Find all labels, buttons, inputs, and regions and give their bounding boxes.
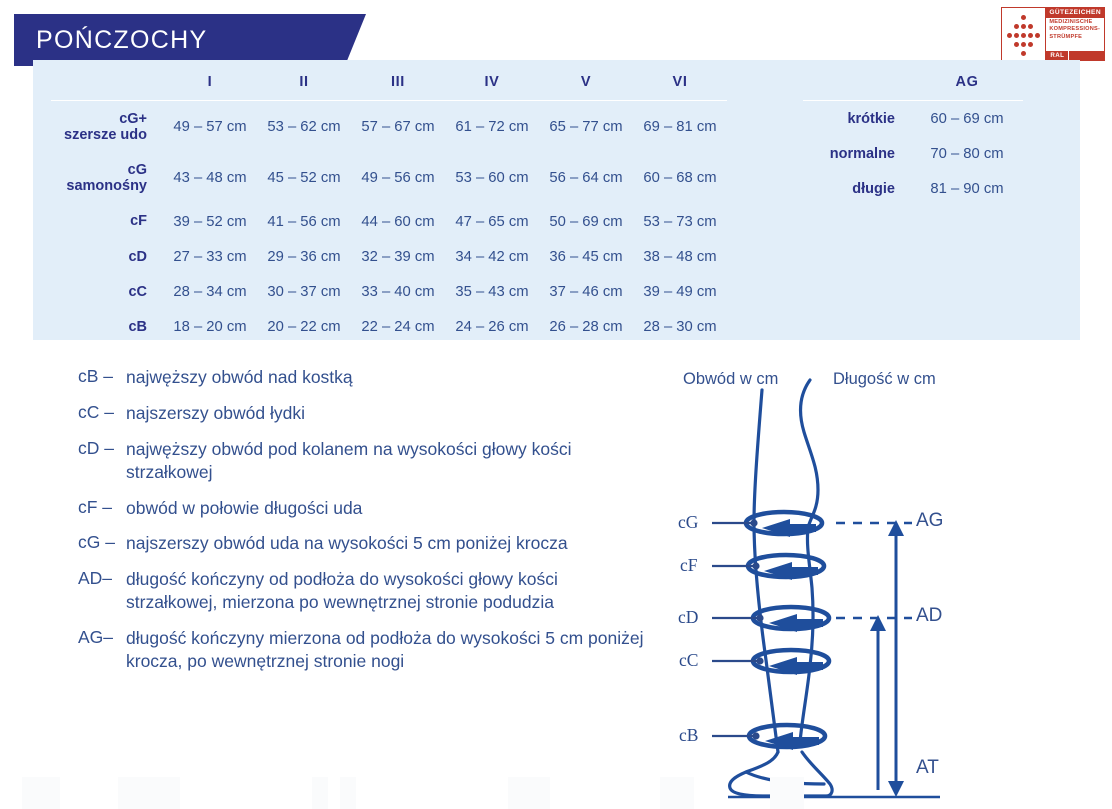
cell-value: 32 – 39 cm xyxy=(351,239,445,274)
legend-key: cB – xyxy=(78,366,126,389)
table-row: długie 81 – 90 cm xyxy=(803,171,1023,206)
column-header-III: III xyxy=(351,68,445,101)
cell-value: 34 – 42 cm xyxy=(445,239,539,274)
diagram-label-cb: cB xyxy=(679,725,698,746)
legend-desc: najwęższy obwód nad kostką xyxy=(126,366,353,389)
leg-diagram-svg xyxy=(650,360,980,800)
dashed-reference-lines xyxy=(836,523,912,618)
legend-key: cG – xyxy=(78,532,126,555)
cell-value: 24 – 26 cm xyxy=(445,310,539,345)
ral-badge: RAL xyxy=(1046,51,1068,60)
row-label-cg: cG samonośny xyxy=(51,152,163,203)
column-header-V: V xyxy=(539,68,633,101)
list-item: AG– długość kończyny mierzona od podłoża… xyxy=(78,627,653,674)
list-item: cC – najszerszy obwód łydki xyxy=(78,402,653,425)
column-header-AG: AG xyxy=(911,68,1023,101)
cell-value: 41 – 56 cm xyxy=(257,204,351,239)
cell-value: 53 – 60 cm xyxy=(445,152,539,203)
ral-line-3: STRÜMPFE xyxy=(1046,32,1104,39)
ral-text-block: GÜTEZEICHEN MEDIZINISCHE KOMPRESSIONS- S… xyxy=(1045,8,1104,60)
cell-value: 70 – 80 cm xyxy=(911,136,1023,171)
measurement-rings xyxy=(746,512,829,747)
cell-value: 35 – 43 cm xyxy=(445,274,539,309)
table-row: krótkie 60 – 69 cm xyxy=(803,101,1023,137)
cell-value: 37 – 46 cm xyxy=(539,274,633,309)
legend-desc: najwęższy obwód pod kolanem na wysokości… xyxy=(126,438,653,485)
cell-value: 29 – 36 cm xyxy=(257,239,351,274)
diagram-heading-length: Długość w cm xyxy=(833,370,936,389)
ag-table-header-row: AG xyxy=(803,68,1023,101)
cell-value: 28 – 34 cm xyxy=(163,274,257,309)
legend-key: cF – xyxy=(78,497,126,520)
column-header-II: II xyxy=(257,68,351,101)
row-label-cc: cC xyxy=(51,274,163,309)
diagram-label-ad: AD xyxy=(916,605,942,627)
cell-value: 49 – 56 cm xyxy=(351,152,445,203)
cell-value: 20 – 22 cm xyxy=(257,310,351,345)
ag-table-corner-cell xyxy=(803,68,911,101)
table-row: normalne 70 – 80 cm xyxy=(803,136,1023,171)
table-row: cG+ szersze udo 49 – 57 cm 53 – 62 cm 57… xyxy=(51,101,727,153)
cell-value: 69 – 81 cm xyxy=(633,101,727,153)
legend-desc: najszerszy obwód uda na wysokości 5 cm p… xyxy=(126,532,568,555)
cell-value: 39 – 52 cm xyxy=(163,204,257,239)
measurement-table-panel: I II III IV V VI cG+ szersze udo 49 – 57… xyxy=(33,60,1080,340)
leg-measurement-diagram: Obwód w cm Długość w cm xyxy=(650,360,980,800)
diagram-heading-circumference: Obwód w cm xyxy=(683,370,778,389)
diagram-label-ag: AG xyxy=(916,510,943,532)
column-header-VI: VI xyxy=(633,68,727,101)
legend-key: cD – xyxy=(78,438,126,485)
diagram-label-cf: cF xyxy=(680,555,698,576)
legend-desc: najszerszy obwód łydki xyxy=(126,402,305,425)
cell-value: 56 – 64 cm xyxy=(539,152,633,203)
cell-value: 44 – 60 cm xyxy=(351,204,445,239)
row-label-line2: samonośny xyxy=(66,178,147,194)
cell-value: 39 – 49 cm xyxy=(633,274,727,309)
row-label-cg-plus: cG+ szersze udo xyxy=(51,101,163,153)
table-corner-cell xyxy=(51,68,163,101)
diagram-label-cc: cC xyxy=(679,650,698,671)
cell-value: 33 – 40 cm xyxy=(351,274,445,309)
cell-value: 47 – 65 cm xyxy=(445,204,539,239)
ral-dot-pattern-icon xyxy=(1002,8,1045,60)
ag-row-label-krotkie: krótkie xyxy=(803,101,911,137)
cell-value: 38 – 48 cm xyxy=(633,239,727,274)
row-label-line1: cG+ xyxy=(119,111,147,127)
cell-value: 22 – 24 cm xyxy=(351,310,445,345)
table-row: cF 39 – 52 cm 41 – 56 cm 44 – 60 cm 47 –… xyxy=(51,204,727,239)
row-label-cb: cB xyxy=(51,310,163,345)
row-label-cd: cD xyxy=(51,239,163,274)
table-row: cG samonośny 43 – 48 cm 45 – 52 cm 49 – … xyxy=(51,152,727,203)
legend-desc: obwód w połowie długości uda xyxy=(126,497,362,520)
cell-value: 61 – 72 cm xyxy=(445,101,539,153)
diagram-label-cg: cG xyxy=(678,512,698,533)
measurement-legend: cB – najwęższy obwód nad kostką cC – naj… xyxy=(78,366,653,686)
list-item: cD – najwęższy obwód pod kolanem na wyso… xyxy=(78,438,653,485)
ral-footer: RAL xyxy=(1046,51,1104,60)
leader-lines xyxy=(712,523,760,736)
dimension-arrows xyxy=(878,530,896,790)
page-bottom-artifacts xyxy=(0,769,1112,809)
table-header-row: I II III IV V VI xyxy=(51,68,727,101)
ag-length-table: AG krótkie 60 – 69 cm normalne 70 – 80 c… xyxy=(803,68,1023,207)
cell-value: 30 – 37 cm xyxy=(257,274,351,309)
list-item: cB – najwęższy obwód nad kostką xyxy=(78,366,653,389)
cell-value: 45 – 52 cm xyxy=(257,152,351,203)
cell-value: 27 – 33 cm xyxy=(163,239,257,274)
ral-footer-bar xyxy=(1068,51,1104,60)
cell-value: 36 – 45 cm xyxy=(539,239,633,274)
list-item: cG – najszerszy obwód uda na wysokości 5… xyxy=(78,532,653,555)
legend-desc: długość kończyny mierzona od podłoża do … xyxy=(126,627,653,674)
table-row: cD 27 – 33 cm 29 – 36 cm 32 – 39 cm 34 –… xyxy=(51,239,727,274)
table-row: cB 18 – 20 cm 20 – 22 cm 22 – 24 cm 24 –… xyxy=(51,310,727,345)
ral-line-1: MEDIZINISCHE xyxy=(1046,18,1104,25)
legend-key: AG– xyxy=(78,627,126,674)
ag-row-label-dlugie: długie xyxy=(803,171,911,206)
page-header-banner: POŃCZOCHY xyxy=(14,14,366,66)
ag-row-label-normalne: normalne xyxy=(803,136,911,171)
legend-desc: długość kończyny od podłoża do wysokości… xyxy=(126,568,653,615)
cell-value: 53 – 73 cm xyxy=(633,204,727,239)
cell-value: 60 – 69 cm xyxy=(911,101,1023,137)
cell-value: 28 – 30 cm xyxy=(633,310,727,345)
page-title: POŃCZOCHY xyxy=(14,26,207,55)
ral-guetezeichen-logo: GÜTEZEICHEN MEDIZINISCHE KOMPRESSIONS- S… xyxy=(1001,7,1105,61)
cell-value: 81 – 90 cm xyxy=(911,171,1023,206)
cell-value: 60 – 68 cm xyxy=(633,152,727,203)
column-header-IV: IV xyxy=(445,68,539,101)
row-label-line1: cG xyxy=(128,162,147,178)
cell-value: 43 – 48 cm xyxy=(163,152,257,203)
diagram-label-cd: cD xyxy=(678,607,698,628)
cell-value: 26 – 28 cm xyxy=(539,310,633,345)
ral-line-2: KOMPRESSIONS- xyxy=(1046,25,1104,32)
cell-value: 49 – 57 cm xyxy=(163,101,257,153)
cell-value: 53 – 62 cm xyxy=(257,101,351,153)
cell-value: 18 – 20 cm xyxy=(163,310,257,345)
legend-key: cC – xyxy=(78,402,126,425)
list-item: AD– długość kończyny od podłoża do wysok… xyxy=(78,568,653,615)
cell-value: 65 – 77 cm xyxy=(539,101,633,153)
circumference-table: I II III IV V VI cG+ szersze udo 49 – 57… xyxy=(51,68,727,345)
cell-value: 57 – 67 cm xyxy=(351,101,445,153)
cell-value: 50 – 69 cm xyxy=(539,204,633,239)
row-label-cf: cF xyxy=(51,204,163,239)
legend-key: AD– xyxy=(78,568,126,615)
table-row: cC 28 – 34 cm 30 – 37 cm 33 – 40 cm 35 –… xyxy=(51,274,727,309)
row-label-line2: szersze udo xyxy=(64,127,147,143)
ral-title: GÜTEZEICHEN xyxy=(1046,8,1104,18)
column-header-I: I xyxy=(163,68,257,101)
list-item: cF – obwód w połowie długości uda xyxy=(78,497,653,520)
